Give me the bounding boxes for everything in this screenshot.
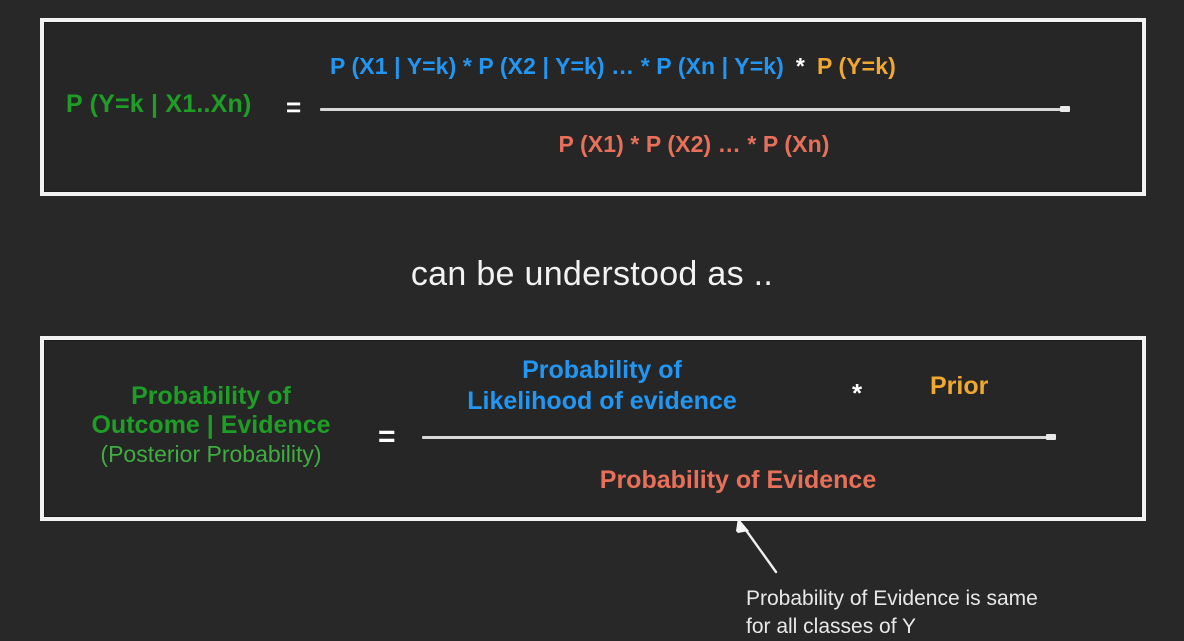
formula1-fraction-bar (320, 108, 1068, 111)
formula1-prior-term: P (Y=k) (817, 53, 896, 79)
formula1-equals-sign: = (286, 92, 301, 123)
formula2-fraction-bar-cap (1046, 434, 1056, 440)
formula2-left-hand-side: Probability of Outcome | Evidence (Poste… (56, 382, 366, 467)
formula2-fraction-bar (422, 436, 1054, 439)
formula1-denominator: P (X1) * P (X2) … * P (Xn) (320, 131, 1068, 158)
formula1-fraction-bar-cap (1060, 106, 1070, 112)
formula2-lhs-subtitle: (Posterior Probability) (56, 441, 366, 468)
formula2-denominator: Probability of Evidence (422, 466, 1054, 495)
formula2-numerator: Probability of Likelihood of evidence (422, 355, 782, 418)
formula1-left-hand-side: P (Y=k | X1..Xn) (66, 90, 252, 119)
formula1-numerator: P (X1 | Y=k) * P (X2 | Y=k) … * P (Xn | … (330, 53, 1090, 80)
formula2-prior-term: Prior (930, 372, 988, 401)
formula2-lhs-line1: Probability of (56, 382, 366, 411)
formula2-numerator-line1: Probability of (422, 355, 782, 386)
formula1-multiply-operator: * (784, 53, 817, 79)
formula1-likelihood-term: P (X1 | Y=k) * P (X2 | Y=k) … * P (Xn | … (330, 53, 784, 79)
arrow-up-left-icon (730, 516, 790, 578)
annotation-line2: for all classes of Y (746, 613, 1146, 641)
formula2-equals-sign: = (378, 420, 396, 454)
formula2-lhs-line2: Outcome | Evidence (56, 411, 366, 440)
annotation-line1: Probability of Evidence is same (746, 585, 1146, 613)
annotation-note: Probability of Evidence is same for all … (746, 585, 1146, 641)
formula2-multiply-operator: * (852, 378, 862, 409)
transition-text: can be understood as .. (0, 255, 1184, 294)
formula2-numerator-line2: Likelihood of evidence (422, 386, 782, 417)
